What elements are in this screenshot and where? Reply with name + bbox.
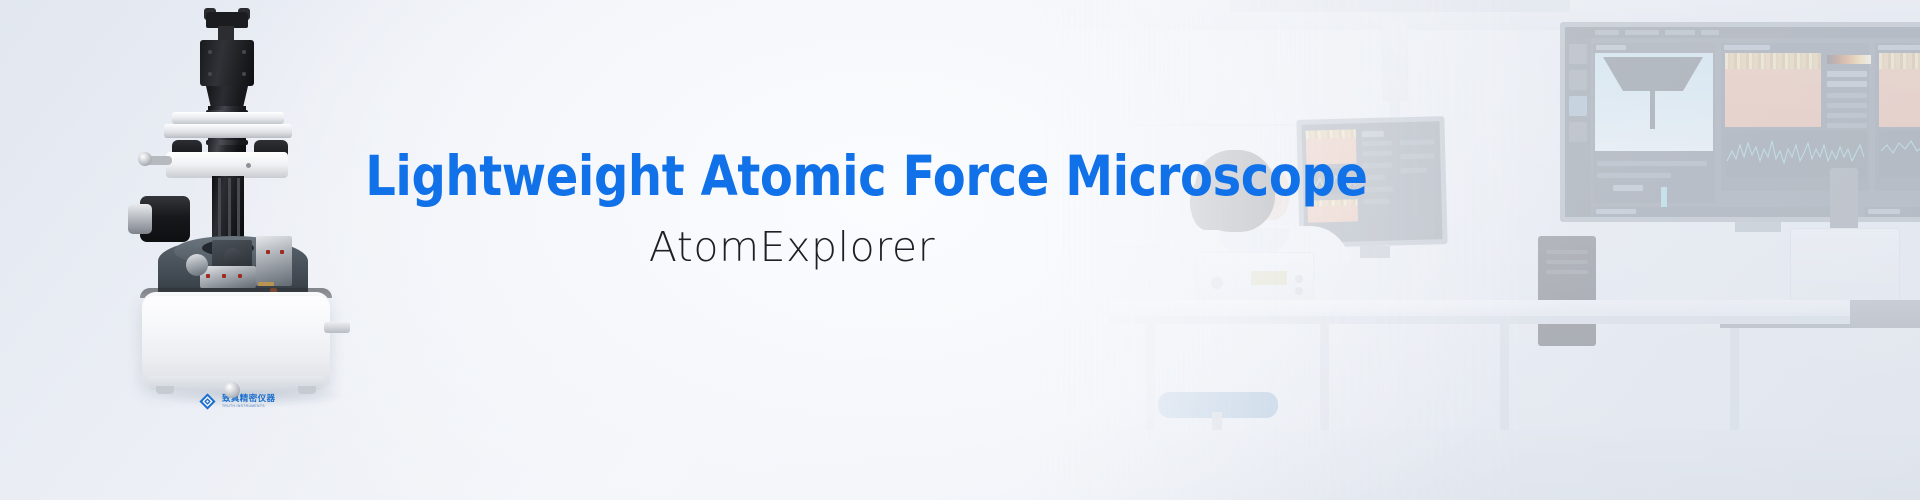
scan-image-right [1879,53,1920,127]
afm-software-window [1565,27,1920,217]
lab-bench-top [1110,300,1850,316]
lab-floor [1030,430,1920,500]
lab-bench-edge [1110,316,1850,324]
wall-dispenser [1382,22,1408,102]
positioner-disc [186,254,208,276]
sample-holder-right [256,236,292,286]
bench-microscope [1830,168,1858,230]
cantilever-camera-view [1595,53,1713,151]
base-foot-left [156,386,174,394]
primary-monitor [1560,22,1920,222]
product-image-afm: 致真精密仪器 TRUTH INSTRUMENTS [128,0,358,420]
camera-block [200,40,254,86]
page-subtitle: AtomExplorer [352,223,1232,271]
stage-plate [166,152,288,178]
bench-instrument [1790,228,1900,304]
desktop-tower [1538,236,1596,346]
color-scale-bar [1827,55,1871,64]
history-panel [1865,207,1920,222]
base-foot-right [298,386,316,394]
diamond-logo-icon [198,392,217,411]
front-adjust-knob [224,382,240,398]
ceiling-rail [1230,0,1570,12]
cantilever-shape [1603,57,1703,91]
cantilever-tip [1650,89,1655,129]
upper-cross-arm [172,112,284,124]
page-title: Lightweight Atomic Force Microscope [365,148,1219,205]
column-taper [206,86,248,108]
configuration-panel [1593,207,1833,222]
secondary-monitor-stand [1360,246,1390,258]
stage-screw [246,163,251,168]
software-tool-rail [1565,38,1591,217]
line-trace-right [1879,131,1920,177]
brand-name-en: TRUTH INSTRUMENTS [222,405,275,408]
scan-head-lens [224,248,242,266]
software-menubar [1565,27,1920,38]
stage-lever-ball [138,152,152,166]
scan-image-left [1725,53,1821,127]
product-hero-banner: 致真精密仪器 TRUTH INSTRUMENTS Lightweight Ato… [0,0,1920,500]
banner-copy: Lightweight Atomic Force Microscope Atom… [352,148,1232,271]
instrument-base: 致真精密仪器 TRUTH INSTRUMENTS [142,296,330,388]
lower-cross-arm [164,124,292,138]
focus-knob-hub [128,204,152,234]
side-connector-rod [324,322,350,333]
monitor-stand [1735,222,1781,232]
